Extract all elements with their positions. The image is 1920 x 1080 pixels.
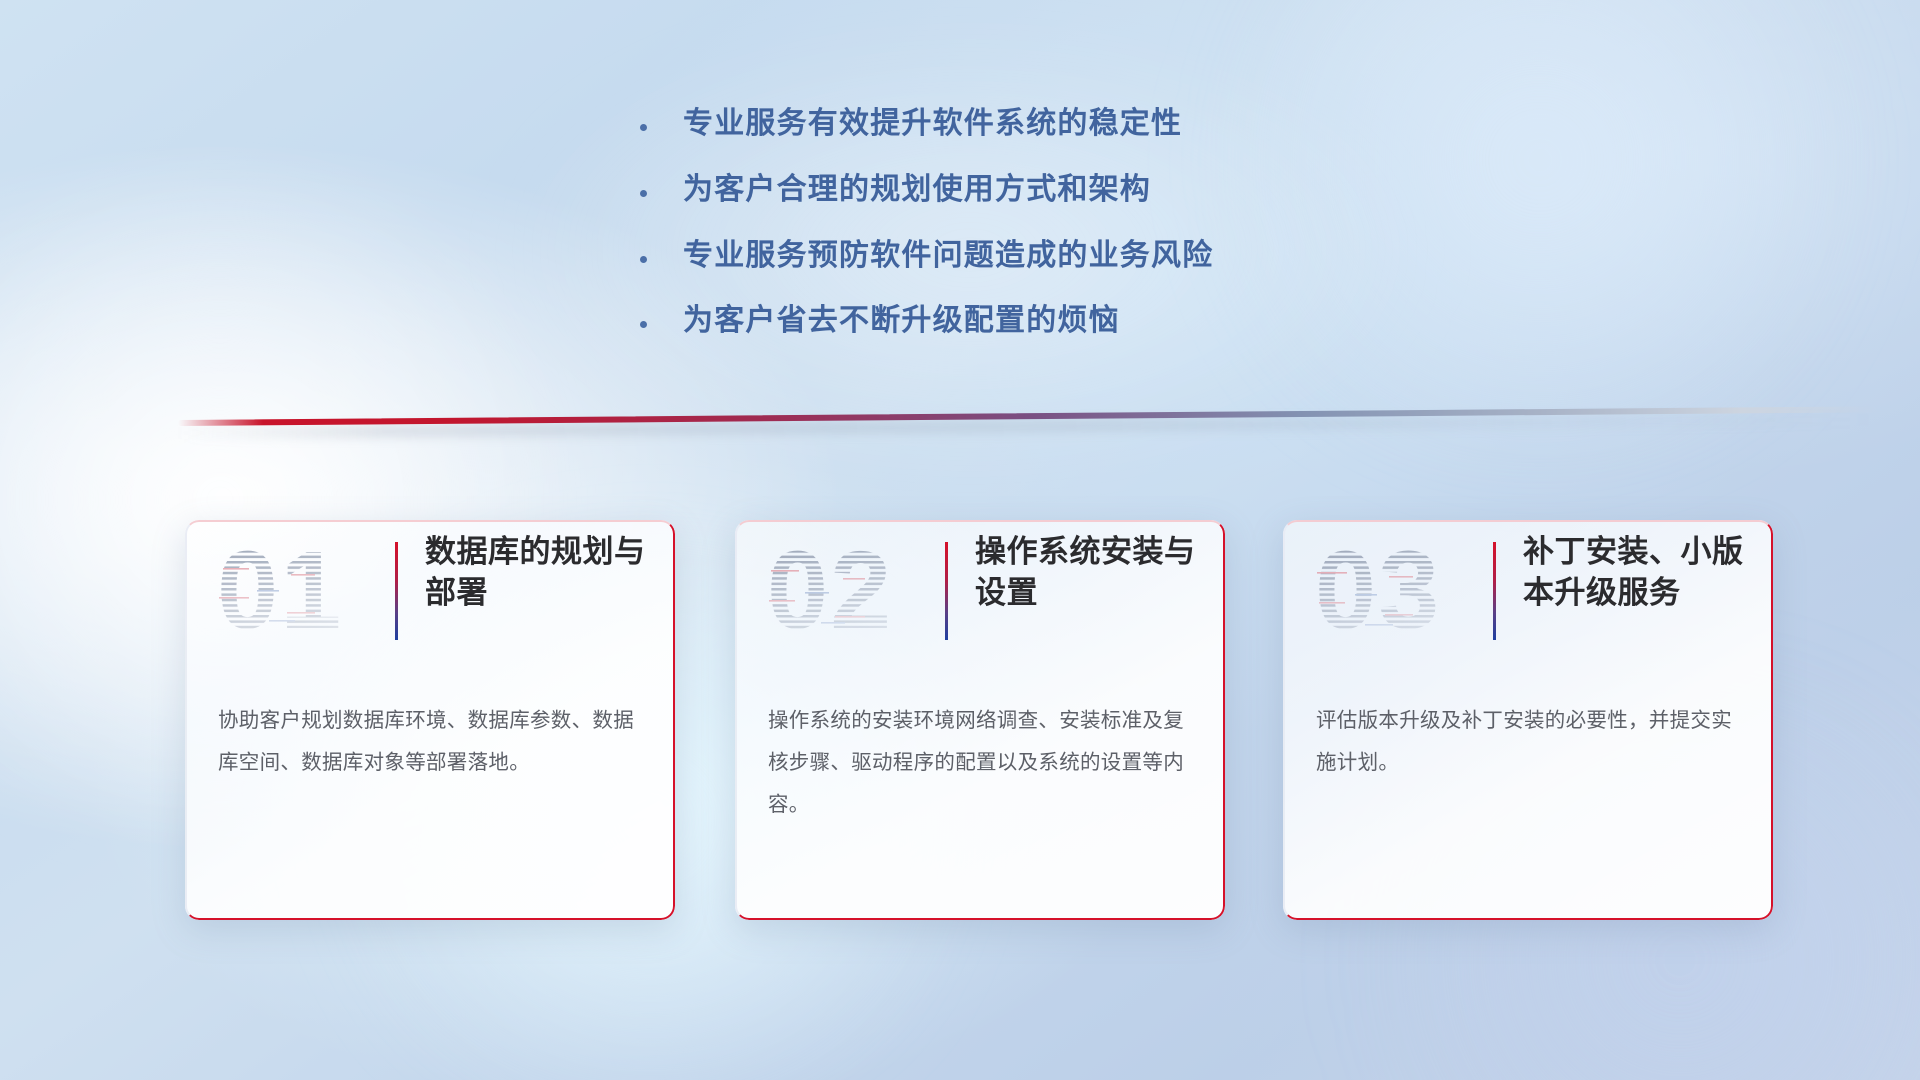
card-description: 评估版本升级及补丁安装的必要性，并提交实施计划。 — [1316, 700, 1738, 784]
card-number-watermark-02: 02 — [767, 534, 912, 646]
bullet-dot-icon — [640, 256, 647, 263]
bullet-dot-icon — [640, 190, 647, 197]
bullet-text: 专业服务有效提升软件系统的稳定性 — [683, 104, 1182, 145]
card-description: 协助客户规划数据库环境、数据库参数、数据库空间、数据库对象等部署落地。 — [218, 700, 640, 784]
service-card[interactable]: 03 补丁安装、小版本升级服务 评估版本升级及补丁安装的必要性，并提交实施计划。 — [1283, 520, 1773, 920]
card-title: 补丁安装、小版本升级服务 — [1523, 532, 1753, 614]
card-title: 数据库的规划与部署 — [425, 532, 655, 614]
service-card[interactable]: 02 操作系统安装与设置 操作系统的安装环境网络调查、安装标准及复核步骤、驱动程… — [735, 520, 1225, 920]
list-item: 为客户省去不断升级配置的烦恼 — [640, 301, 1400, 342]
bullet-dot-icon — [640, 124, 647, 131]
card-header: 03 补丁安装、小版本升级服务 — [1283, 520, 1773, 665]
svg-text:02: 02 — [767, 534, 893, 646]
slide-canvas: 专业服务有效提升软件系统的稳定性 为客户合理的规划使用方式和架构 专业服务预防软… — [0, 0, 1920, 1080]
service-card[interactable]: 01 数据库的规划与部署 协助客户规划数据库环境、数据库参数、数据库空间、数据库… — [185, 520, 675, 920]
list-item: 专业服务有效提升软件系统的稳定性 — [640, 104, 1400, 145]
card-number-watermark-01: 01 — [217, 534, 362, 646]
card-header: 02 操作系统安装与设置 — [735, 520, 1225, 665]
bullet-dot-icon — [640, 321, 647, 328]
bullet-text: 专业服务预防软件问题造成的业务风险 — [683, 236, 1213, 277]
card-accent-rule — [945, 542, 948, 640]
bullet-text: 为客户省去不断升级配置的烦恼 — [683, 301, 1120, 342]
bullet-text: 为客户合理的规划使用方式和架构 — [683, 170, 1151, 211]
card-accent-rule — [1493, 542, 1496, 640]
list-item: 专业服务预防软件问题造成的业务风险 — [640, 236, 1400, 277]
card-accent-rule — [395, 542, 398, 640]
section-divider — [0, 400, 1920, 460]
benefits-bullet-list: 专业服务有效提升软件系统的稳定性 为客户合理的规划使用方式和架构 专业服务预防软… — [640, 104, 1400, 367]
service-card-group: 01 数据库的规划与部署 协助客户规划数据库环境、数据库参数、数据库空间、数据库… — [0, 520, 1920, 940]
card-number-watermark-03: 03 — [1315, 534, 1460, 646]
card-header: 01 数据库的规划与部署 — [185, 520, 675, 665]
card-description: 操作系统的安装环境网络调查、安装标准及复核步骤、驱动程序的配置以及系统的设置等内… — [768, 700, 1190, 826]
svg-text:01: 01 — [217, 534, 343, 646]
list-item: 为客户合理的规划使用方式和架构 — [640, 170, 1400, 211]
card-title: 操作系统安装与设置 — [975, 532, 1205, 614]
svg-text:03: 03 — [1315, 534, 1441, 646]
